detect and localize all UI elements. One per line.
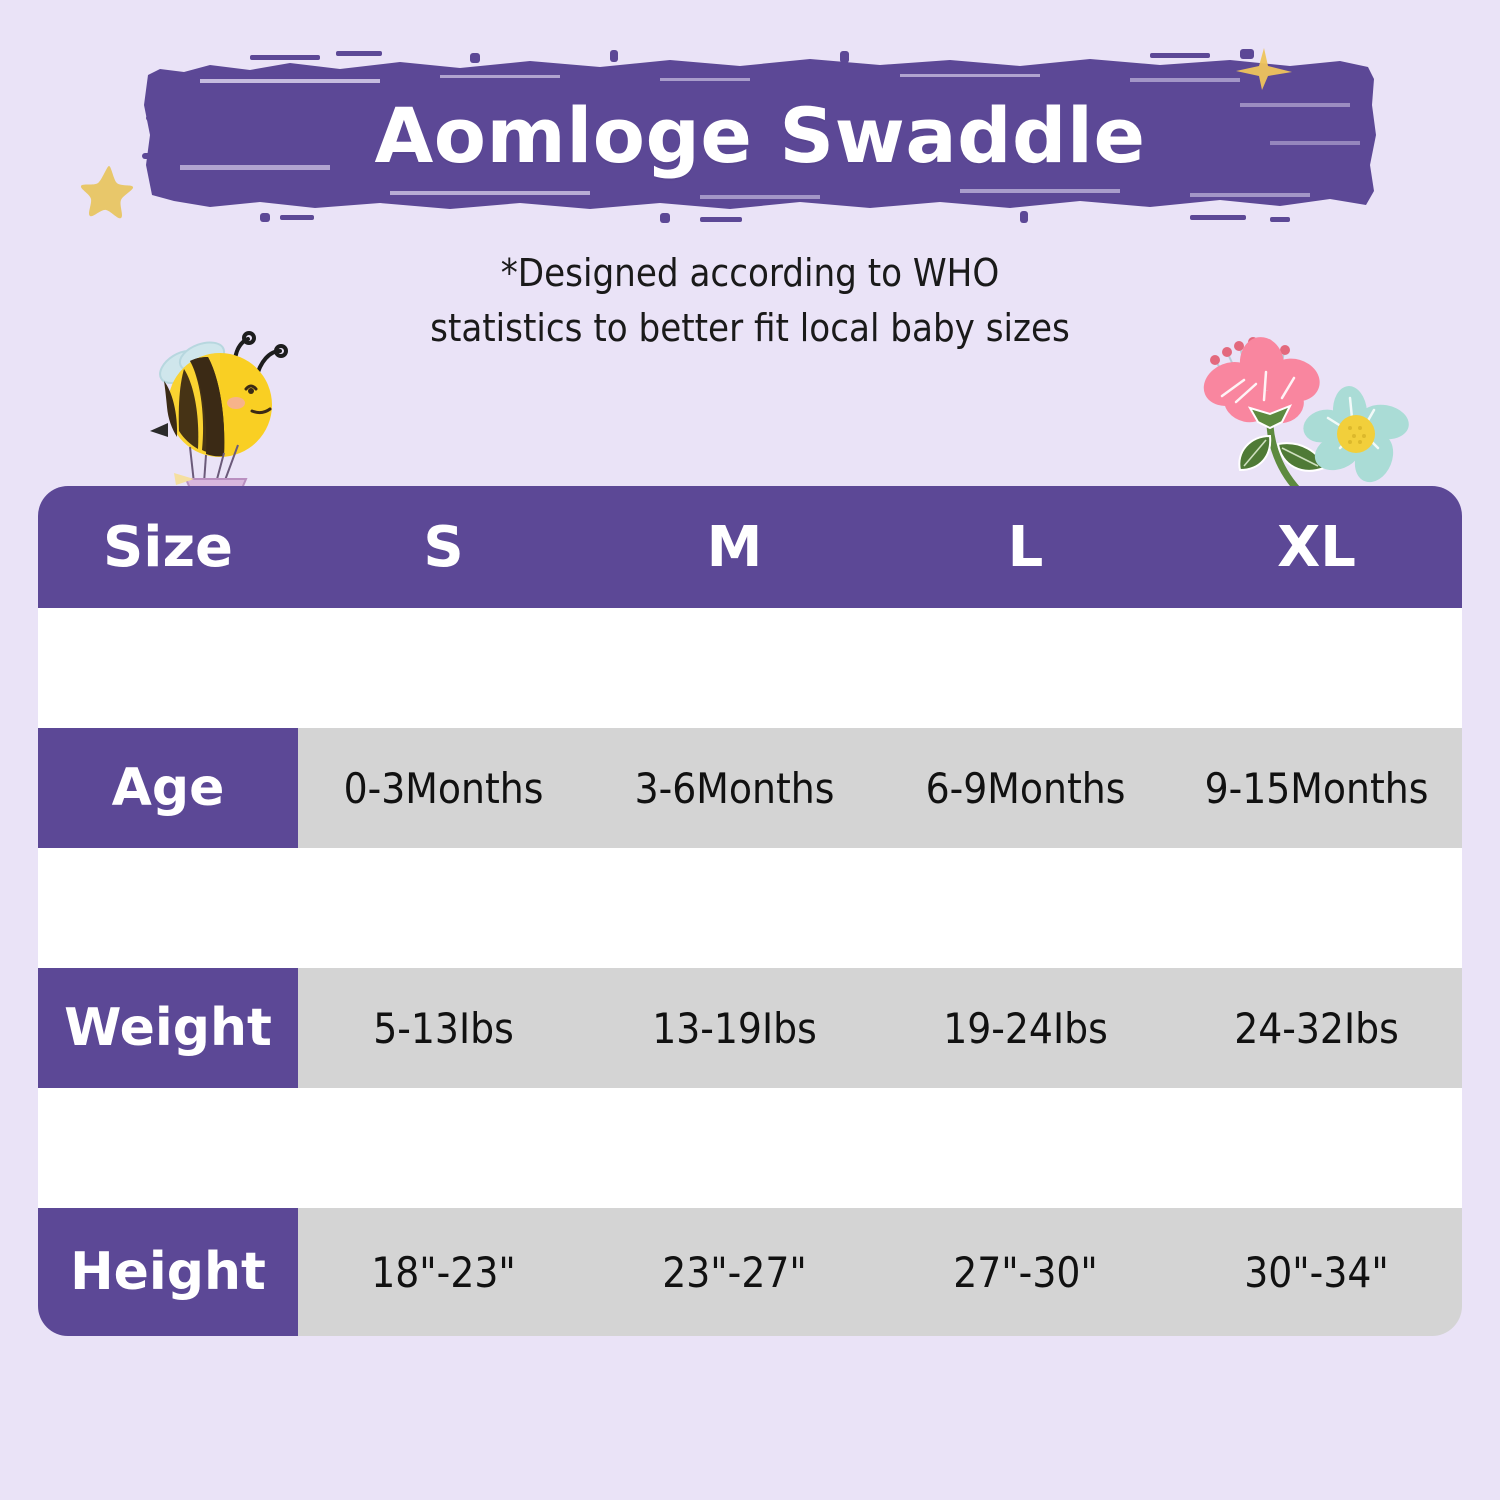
table-spacer-2	[38, 848, 1462, 968]
cell-height-l: 27"-30"	[880, 1208, 1171, 1336]
size-chart-table: Size S M L XL Age 0-3Months 3-6Months 6-…	[38, 486, 1462, 1336]
row-cells-weight: 5-13Ibs 13-19Ibs 19-24Ibs 24-32Ibs	[298, 968, 1462, 1088]
row-cells-age: 0-3Months 3-6Months 6-9Months 9-15Months	[298, 728, 1462, 848]
cell-height-xl: 30"-34"	[1171, 1208, 1462, 1336]
cell-age-xl: 9-15Months	[1171, 728, 1462, 848]
sparkle-icon	[1232, 46, 1302, 92]
header-label-size: Size	[38, 486, 298, 608]
header-size-cells: S M L XL	[298, 486, 1462, 608]
row-label-weight: Weight	[38, 968, 298, 1088]
cell-height-s: 18"-23"	[298, 1208, 589, 1336]
cell-height-m: 23"-27"	[589, 1208, 880, 1336]
cell-weight-m: 13-19Ibs	[589, 968, 880, 1088]
header-size-l: L	[880, 486, 1171, 608]
table-row-weight: Weight 5-13Ibs 13-19Ibs 19-24Ibs 24-32Ib…	[38, 968, 1462, 1088]
table-row-height: Height 18"-23" 23"-27" 27"-30" 30"-34"	[38, 1208, 1462, 1336]
cell-age-m: 3-6Months	[589, 728, 880, 848]
row-label-age: Age	[38, 728, 298, 848]
header-size-xl: XL	[1171, 486, 1462, 608]
cell-weight-s: 5-13Ibs	[298, 968, 589, 1088]
row-cells-height: 18"-23" 23"-27" 27"-30" 30"-34"	[298, 1208, 1462, 1336]
cell-weight-xl: 24-32Ibs	[1171, 968, 1462, 1088]
cell-age-l: 6-9Months	[880, 728, 1171, 848]
table-spacer-1	[38, 608, 1462, 728]
cell-weight-l: 19-24Ibs	[880, 968, 1171, 1088]
header-size-m: M	[589, 486, 880, 608]
table-spacer-3	[38, 1088, 1462, 1208]
table-row-age: Age 0-3Months 3-6Months 6-9Months 9-15Mo…	[38, 728, 1462, 848]
table-header-row: Size S M L XL	[38, 486, 1462, 608]
header-size-s: S	[298, 486, 589, 608]
page-title: Aomloge Swaddle	[140, 45, 1380, 225]
cell-age-s: 0-3Months	[298, 728, 589, 848]
banner-area: Aomloge Swaddle	[0, 0, 1500, 240]
star-icon	[78, 163, 140, 225]
flowers-icon	[1178, 318, 1418, 498]
row-label-height: Height	[38, 1208, 298, 1336]
subtitle-line-1: *Designed according to WHO	[0, 246, 1500, 301]
